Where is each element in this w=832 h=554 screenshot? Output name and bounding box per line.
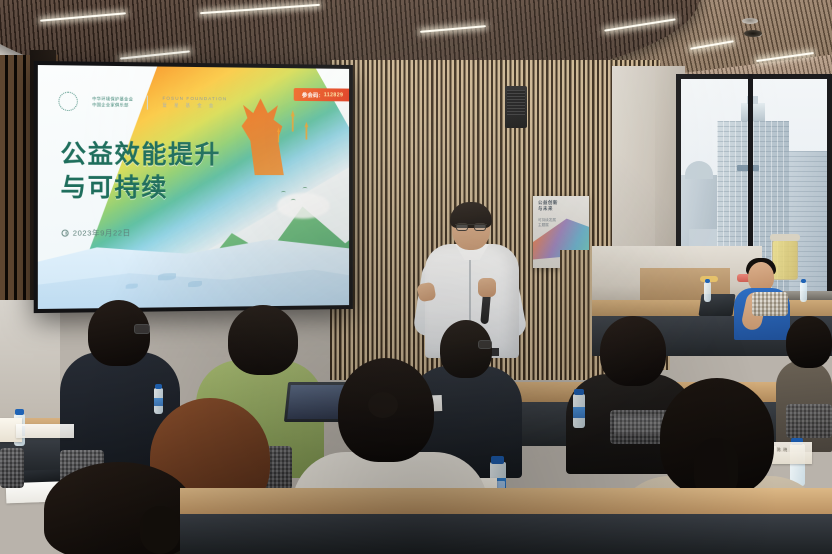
slide-badge-number: 112829 [324, 92, 343, 98]
slide-title: 公益效能提升 与可持续 [60, 138, 220, 205]
front-table-top [180, 488, 832, 514]
water-bottle-cap [155, 384, 162, 389]
foundation-logo-icon [58, 92, 77, 111]
audience-green-shirt-head [228, 305, 298, 375]
chair-mesh-back [0, 448, 24, 488]
clock-icon [61, 230, 68, 237]
logo-divider [147, 95, 148, 109]
audience-glasses [478, 340, 492, 349]
beverage-dispenser-lid [770, 234, 800, 241]
water-bottle-cap [801, 279, 806, 283]
slide-bird-icon [281, 191, 286, 194]
name-placard-text: 陈 晓 [777, 447, 788, 453]
poster-title: 公益创新 与未来 [538, 200, 558, 211]
beverage-dispenser [772, 240, 798, 280]
audience-navy-jacket-head [440, 320, 492, 378]
water-bottle-cap [574, 389, 584, 395]
slide-cloud-art [277, 193, 330, 219]
chair-back-row [752, 292, 788, 316]
chair-mesh-back [786, 404, 832, 438]
audience-glasses [134, 324, 150, 334]
water-bottle [704, 282, 711, 302]
water-bottle-label [573, 407, 585, 418]
audience-right-edge-head [786, 316, 832, 368]
ceiling-downlight-icon [742, 18, 758, 24]
slide-date-row: 2023年9月22日 [61, 227, 130, 238]
slide-title-line1: 公益效能提升 [60, 140, 220, 169]
presenter-glasses-bridge [455, 224, 487, 231]
slide-badge: 参会码: 112829 [294, 88, 349, 101]
slide-fosun-block: FOSUN FOUNDATION 复 星 基 金 会 [162, 96, 227, 110]
city-tower-left-dome [685, 161, 713, 179]
water-bottle-cap [491, 456, 504, 464]
front-table-front [180, 512, 832, 554]
slide-org-logo-en: FOSUN FOUNDATION [162, 96, 227, 102]
wall-speaker-grille [507, 90, 525, 116]
slide-bird-icon [291, 199, 296, 202]
audience-front-ponytail [140, 506, 180, 554]
water-bottle-cap [15, 409, 24, 415]
name-placard: 陈 晓 [772, 442, 812, 464]
slide-title-line2: 与可持续 [60, 172, 220, 205]
slide-bird-icon [303, 187, 308, 190]
water-bottle [800, 282, 807, 302]
water-bottle-cap [705, 279, 710, 283]
presentation-slide: 中华环境保护基金会 中国企业家俱乐部 FOSUN FOUNDATION 复 星 … [38, 65, 349, 309]
city-tower-crown [741, 103, 765, 121]
slide-badge-label: 参会码: [302, 91, 321, 99]
conference-room-photo: 中华环境保护基金会 中国企业家俱乐部 FOSUN FOUNDATION 复 星 … [0, 0, 832, 554]
audience-black-top-head [600, 316, 666, 386]
projection-screen: 中华环境保护基金会 中国企业家俱乐部 FOSUN FOUNDATION 复 星 … [34, 61, 353, 313]
slide-date: 2023年9月22日 [73, 227, 131, 238]
water-bottle-label [154, 398, 163, 406]
poster-subtitle: 可持续发展 主题展 [538, 218, 556, 227]
ceiling-vent-icon [744, 30, 762, 37]
presenter-right-hand [478, 278, 496, 297]
audience-hair-clip [368, 392, 398, 418]
slide-org-logo-en-cn: 复 星 基 金 会 [162, 103, 227, 110]
handout-paper [16, 424, 74, 438]
slide-org-logo-cn: 中华环境保护基金会 中国企业家俱乐部 [92, 96, 133, 107]
slide-logo-row: 中华环境保护基金会 中国企业家俱乐部 FOSUN FOUNDATION 复 星 … [58, 92, 227, 113]
